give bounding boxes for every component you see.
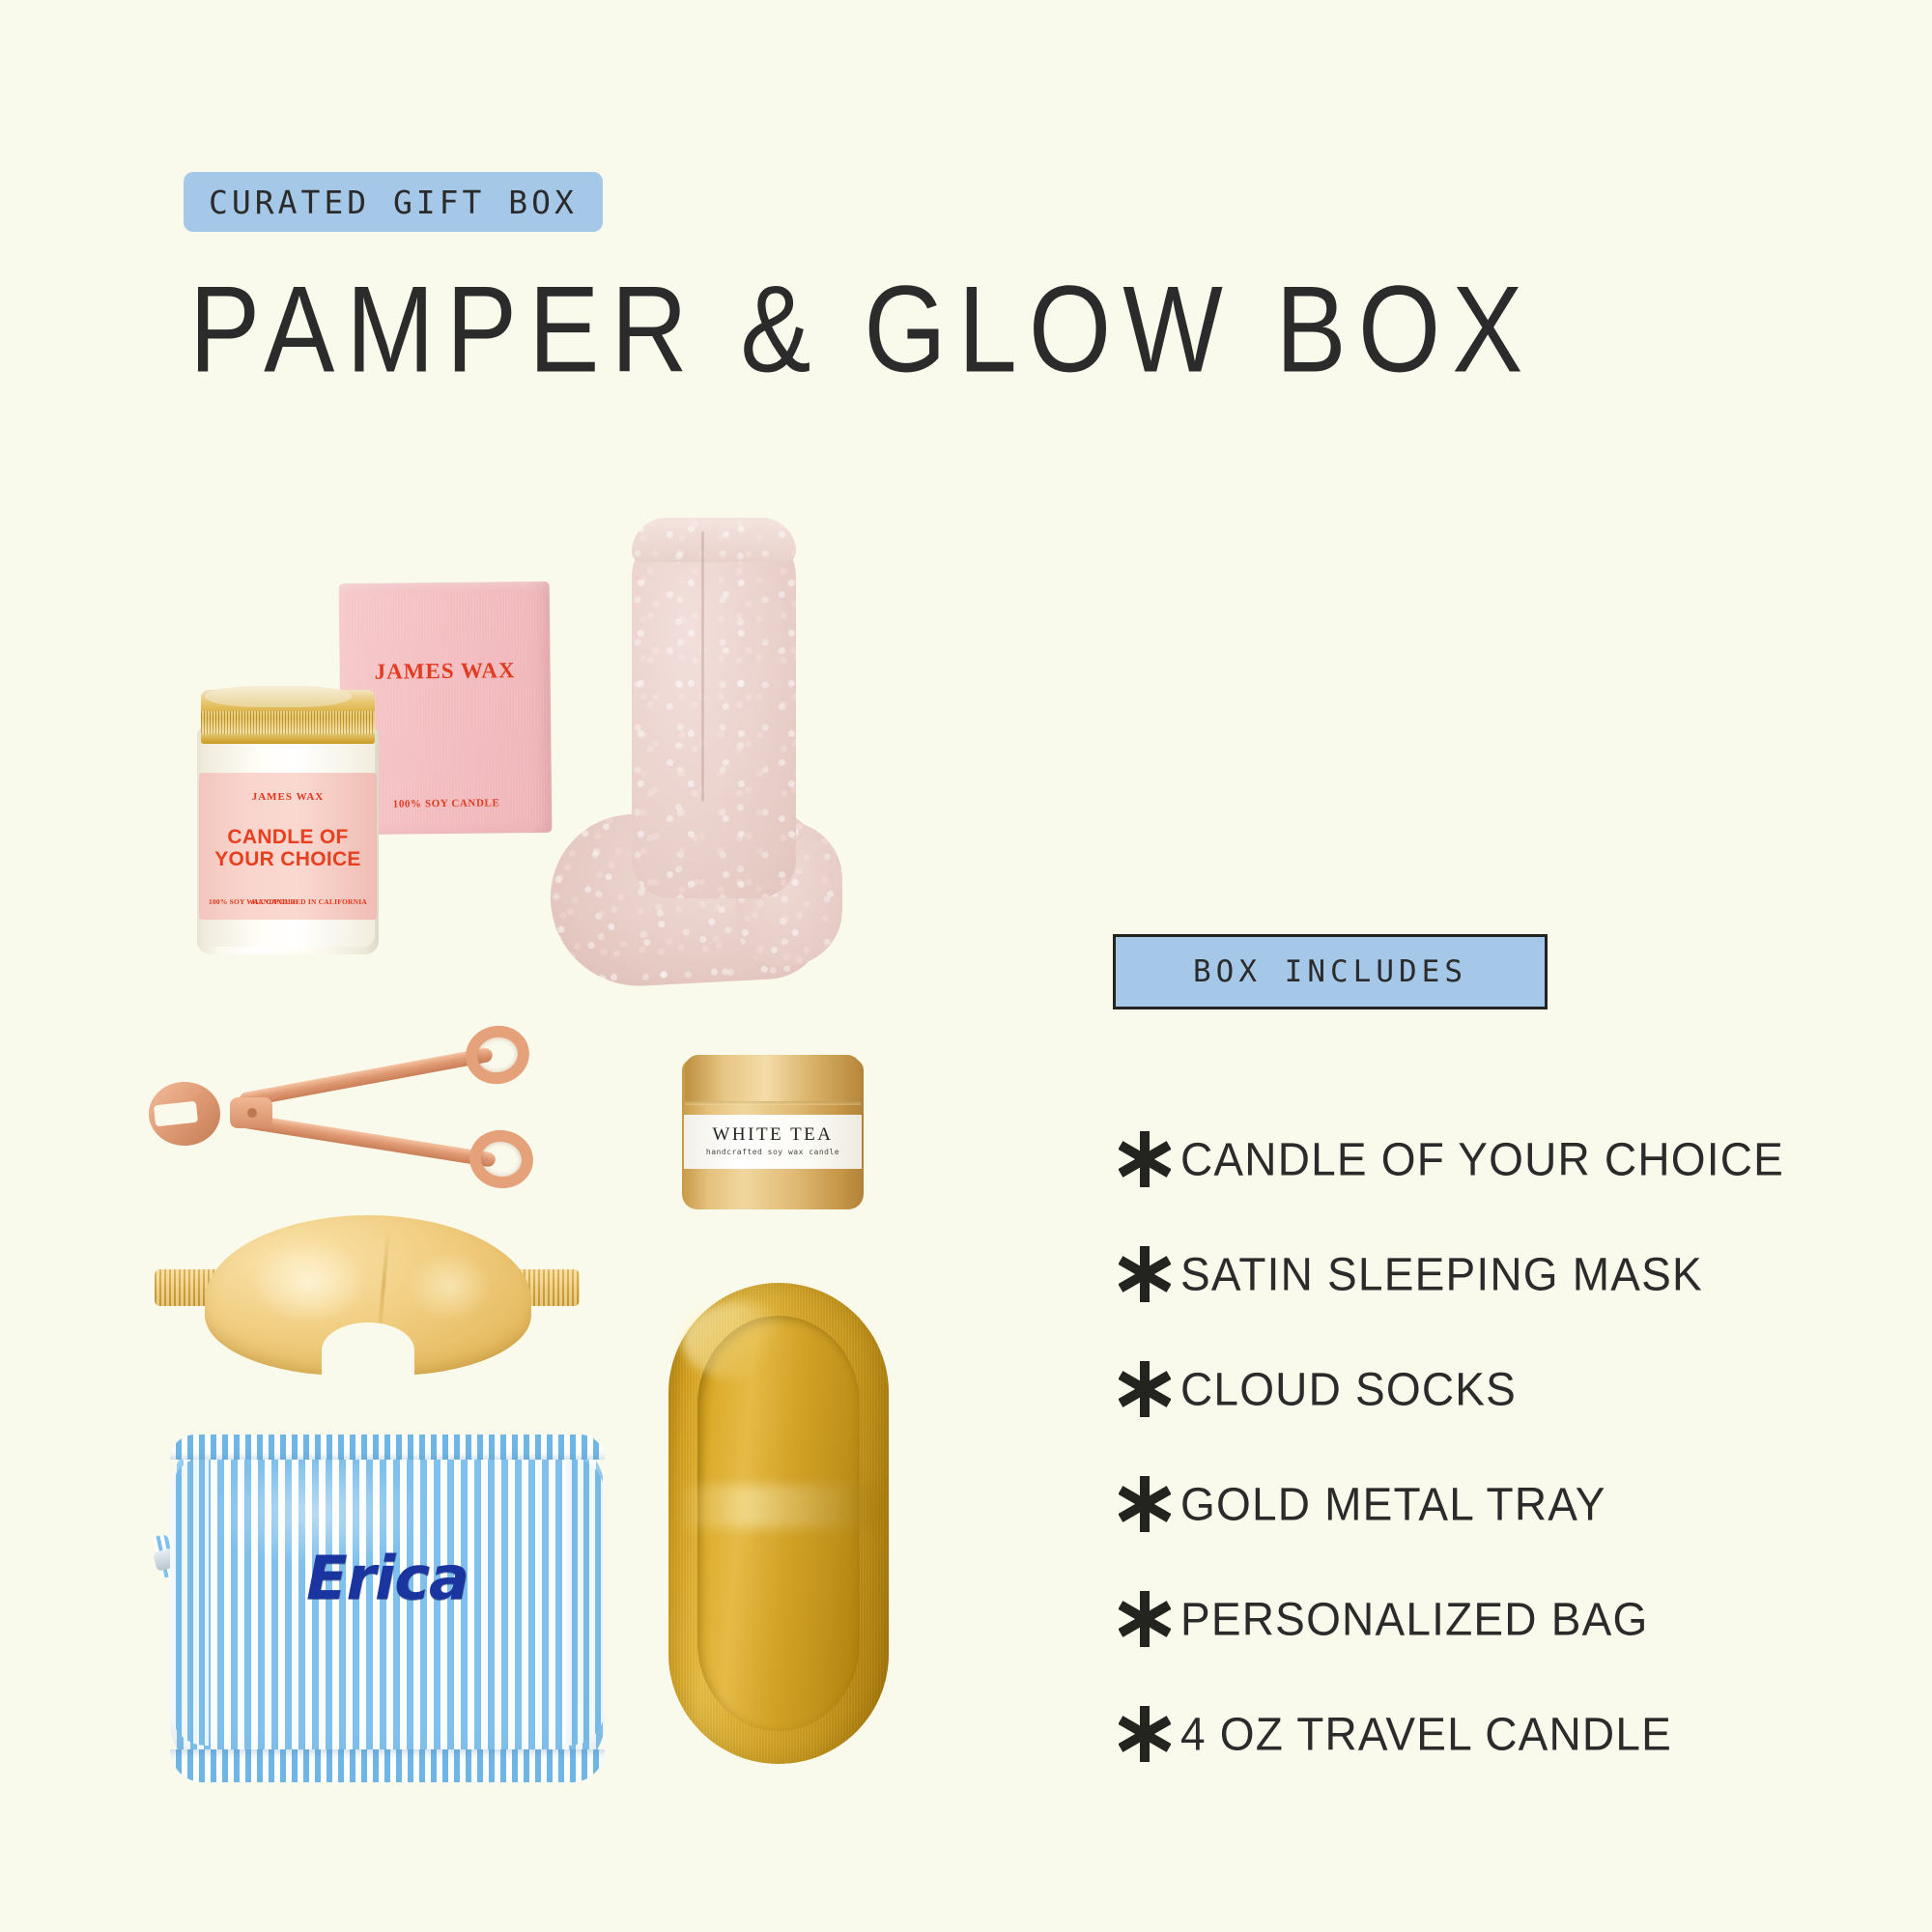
jar-label: JAMES WAX CANDLE OF YOUR CHOICE 100% SOY… [199,773,377,920]
product-cloud-socks [547,522,856,1063]
list-item: 4 OZ TRAVEL CANDLE [1109,1676,1901,1791]
box-includes-label: BOX INCLUDES [1193,954,1467,989]
tray-highlight-top [682,1302,792,1379]
asterisk-icon [1109,1706,1180,1762]
sock-leg [632,522,796,898]
sock-cuff [632,518,796,562]
trimmer-arm-upper [239,1047,494,1108]
asterisk-icon [1109,1246,1180,1302]
jar-footnote-right: HANDPOURED IN CALIFORNIA [252,897,367,906]
eyebrow-label: CURATED GIFT BOX [209,184,578,221]
product-gold-tray [668,1283,889,1764]
trimmer-head-notch [154,1101,198,1126]
tray-highlight-band [677,1485,880,1528]
tray-rim [668,1283,889,1764]
asterisk-icon [1109,1361,1180,1417]
eyebrow-badge: CURATED GIFT BOX [184,172,603,232]
bag-monogram-name: Erica [153,1543,622,1613]
tin-label: WHITE TEA handcrafted soy wax candle [684,1115,862,1169]
list-item-label: GOLD METAL TRAY [1180,1476,1606,1530]
list-item: SATIN SLEEPING MASK [1109,1216,1901,1331]
product-travel-candle-tin: WHITE TEA handcrafted soy wax candle [682,1059,864,1209]
trimmer-head [149,1082,220,1146]
sock-fuzz-texture [632,518,796,562]
list-item-label: 4 OZ TRAVEL CANDLE [1180,1706,1672,1760]
asterisk-icon [1109,1591,1180,1647]
product-sleeping-mask [155,1213,580,1379]
asterisk-icon [1109,1476,1180,1532]
wax-box-brand-label: JAMES WAX [339,658,550,685]
sock-seam [701,531,704,802]
jar-lid-top [205,686,352,707]
list-item: PERSONALIZED BAG [1109,1561,1901,1676]
page-title: PAMPER & GLOW BOX [189,259,1535,401]
mask-highlight-left [250,1241,368,1324]
jar-headline-line2: YOUR CHOICE [214,848,360,870]
product-candle-jar: JAMES WAX CANDLE OF YOUR CHOICE 100% SOY… [191,690,384,954]
jar-headline-line1: CANDLE OF [227,826,348,848]
asterisk-icon [1109,1131,1180,1187]
tin-title-label: WHITE TEA [684,1124,862,1146]
mask-nose-notch [322,1322,414,1378]
list-item: GOLD METAL TRAY [1109,1446,1901,1561]
list-item: CANDLE OF YOUR CHOICE [1109,1101,1901,1216]
list-item: CLOUD SOCKS [1109,1331,1901,1446]
box-includes-badge: BOX INCLUDES [1113,934,1548,1009]
trimmer-arm-lower [239,1113,497,1168]
list-item-label: SATIN SLEEPING MASK [1180,1246,1703,1300]
bag-piping-bottom [170,1749,605,1782]
box-includes-list: CANDLE OF YOUR CHOICE SATIN SLEEPING MAS… [1109,1101,1901,1791]
trimmer-ring-upper [460,1020,534,1090]
list-item-label: CANDLE OF YOUR CHOICE [1180,1131,1784,1185]
mask-highlight-right [408,1251,493,1321]
trimmer-pivot-screw [247,1108,257,1118]
list-item-label: PERSONALIZED BAG [1180,1591,1648,1645]
jar-brand-label: JAMES WAX [199,791,377,803]
list-item-label: CLOUD SOCKS [1180,1361,1517,1415]
trimmer-ring-lower [465,1125,537,1194]
tin-lid [685,1055,861,1101]
mask-body [205,1215,531,1376]
product-personalized-bag: Erica [153,1435,622,1782]
tin-subtitle-label: handcrafted soy wax candle [684,1148,862,1156]
bag-piping-top [170,1435,605,1460]
gift-box-graphic: CURATED GIFT BOX PAMPER & GLOW BOX JAMES… [0,0,1932,1932]
product-wick-trimmer [155,1012,570,1206]
sock-fuzz-texture [632,522,796,898]
jar-headline: CANDLE OF YOUR CHOICE [199,826,377,870]
